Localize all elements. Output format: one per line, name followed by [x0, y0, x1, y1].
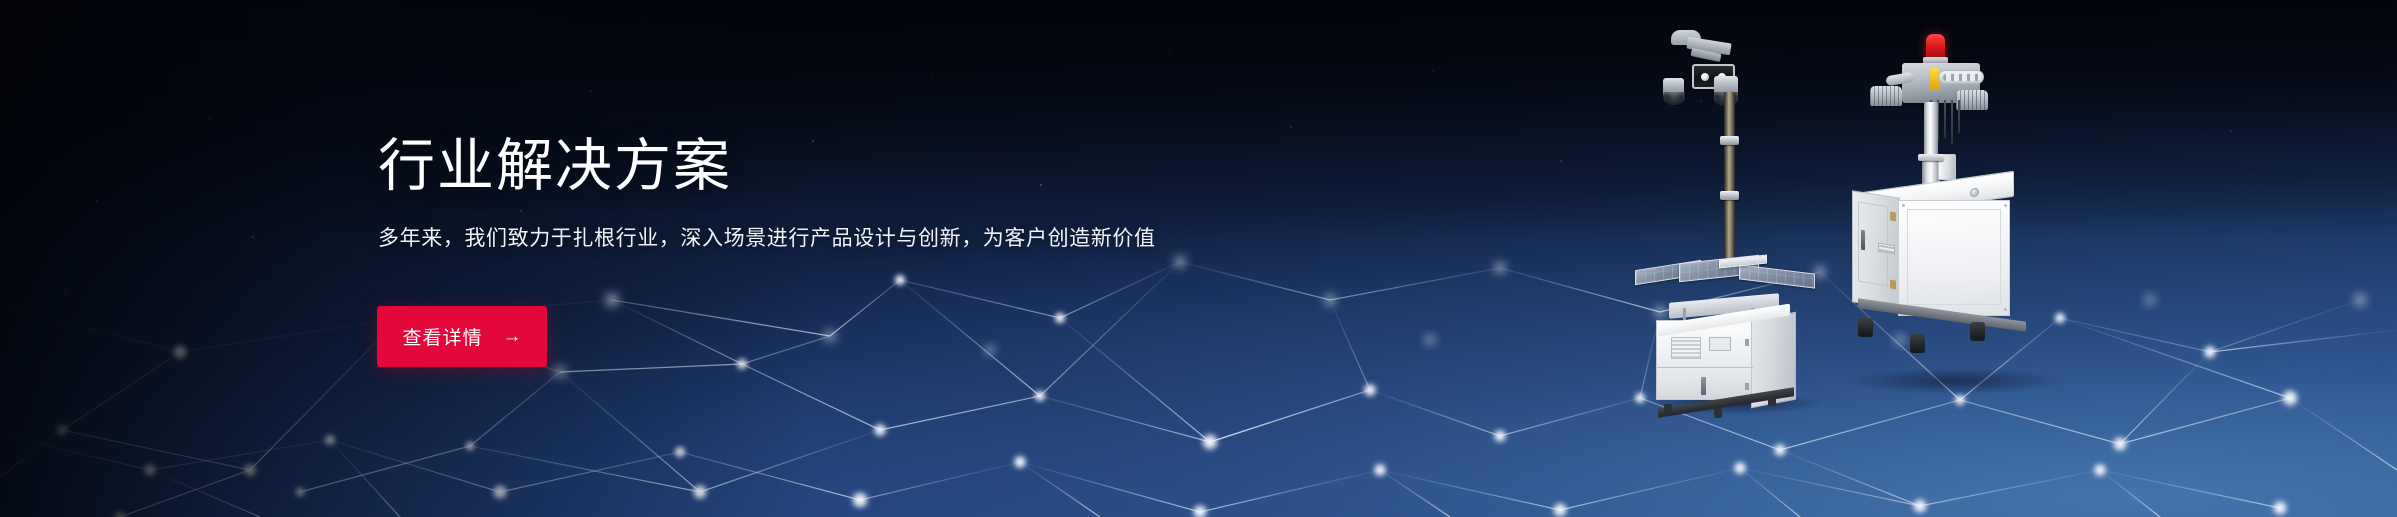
hero-banner: 行业解决方案 多年来，我们致力于扎根行业，深入场景进行产品设计与创新，为客户创造…	[0, 0, 2397, 517]
page-title: 行业解决方案	[378, 138, 1578, 195]
page-subtitle: 多年来，我们致力于扎根行业，深入场景进行产品设计与创新，为客户创造新价值	[378, 223, 1578, 255]
view-details-label: 查看详情	[402, 323, 482, 350]
arrow-right-icon: →	[503, 327, 522, 346]
unit-b-ground-shadow	[1848, 368, 2063, 394]
hero-copy-block: 行业解决方案 多年来，我们致力于扎根行业，深入场景进行产品设计与创新，为客户创造…	[378, 138, 1578, 255]
unit-a-ground-shadow	[1650, 392, 1825, 414]
grain-overlay	[0, 0, 2397, 517]
view-details-button[interactable]: 查看详情 →	[377, 306, 547, 367]
